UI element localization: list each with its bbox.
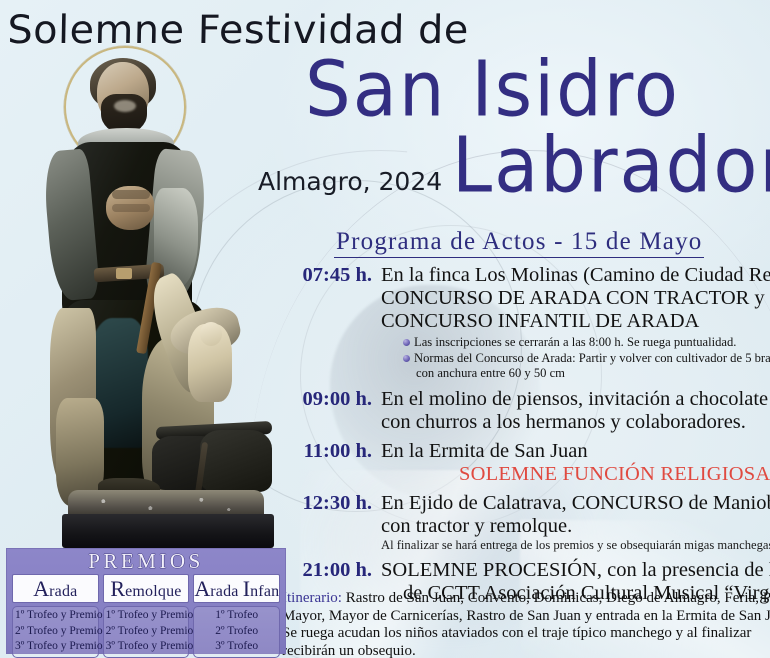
event-row: 09:00 h. En el molino de piensos, invita… xyxy=(282,388,770,434)
premios-title: PREMIOS xyxy=(7,549,285,574)
poster-canvas: Solemne Festividad de San Isidro Labrado… xyxy=(0,0,770,658)
event-note: Al finalizar se hará entrega de los prem… xyxy=(381,538,770,553)
list-item: 2º Trofeo xyxy=(196,624,277,640)
event-highlight-line: SOLEMNE FUNCIÓN RELIGIOSA xyxy=(381,463,770,486)
itinerary-line-4: recibirán un obsequio. xyxy=(282,643,770,658)
premios-header-rest-2: nfantil xyxy=(250,583,280,600)
bullet-text: Las inscripciones se cerrarán a las 8:00… xyxy=(414,335,736,351)
itinerary-line-3: Se ruega acudan los niños ataviados con … xyxy=(282,625,770,643)
bullet-text-main: Normas del Concurso de Arada: Partir y v… xyxy=(414,351,770,365)
premios-column-arada-infantil: Arada Infantil 1º Trofeo 2º Trofeo 3º Tr… xyxy=(193,574,280,658)
event-line: En Ejido de Calatrava, CONCURSO de Manio… xyxy=(381,492,770,515)
event-line: En el molino de piensos, invitación a ch… xyxy=(381,388,770,411)
itinerary-block: Itinerario: Rastro de San Juan, Convento… xyxy=(282,590,770,658)
premios-column-header: Arada xyxy=(12,574,99,603)
list-item: 3º Trofeo y Premio xyxy=(15,639,96,655)
premios-columns: Arada 1º Trofeo y Premio 2º Trofeo y Pre… xyxy=(7,574,285,658)
event-row: 11:00 h. En la Ermita de San Juan SOLEMN… xyxy=(282,440,770,486)
event-time: 07:45 h. xyxy=(282,264,381,287)
list-item: 3º Trofeo xyxy=(196,639,277,655)
event-bullet-list: Las inscripciones se cerrarán a las 8:00… xyxy=(403,335,770,382)
premios-header-initial: A xyxy=(33,576,49,601)
list-item: 1º Trofeo y Premio xyxy=(106,608,187,624)
list-item: 1º Trofeo xyxy=(196,608,277,624)
premios-prize-list: 1º Trofeo y Premio 2º Trofeo y Premio 3º… xyxy=(12,606,99,658)
list-item: 2º Trofeo y Premio xyxy=(106,624,187,640)
event-body: En Ejido de Calatrava, CONCURSO de Manio… xyxy=(381,492,770,553)
premios-prize-list: 1º Trofeo y Premio 2º Trofeo y Premio 3º… xyxy=(103,606,190,658)
bullet-text-continuation: con anchura entre 60 y 50 cm xyxy=(414,366,770,382)
programme-section: Programa de Actos - 15 de Mayo 07:45 h. … xyxy=(282,228,770,605)
ox-right xyxy=(200,430,272,492)
premios-header-rest: rada xyxy=(210,583,243,600)
san-isidro-statue xyxy=(2,38,284,550)
statue-plinth xyxy=(62,514,274,548)
premios-header-initial: A xyxy=(194,576,210,601)
event-time: 11:00 h. xyxy=(282,440,381,463)
event-row: 12:30 h. En Ejido de Calatrava, CONCURSO… xyxy=(282,492,770,553)
event-line: CONCURSO INFANTIL DE ARADA xyxy=(381,310,770,333)
premios-header-initial-2: I xyxy=(243,576,250,601)
premios-column-arada: Arada 1º Trofeo y Premio 2º Trofeo y Pre… xyxy=(12,574,99,658)
event-row: 07:45 h. En la finca Los Molinas (Camino… xyxy=(282,264,770,382)
itinerary-label: Itinerario: xyxy=(282,590,342,606)
subtitle-city-year: Almagro, 2024 xyxy=(258,167,442,196)
event-line: En la finca Los Molinas (Camino de Ciuda… xyxy=(381,264,770,287)
event-body: En la finca Los Molinas (Camino de Ciuda… xyxy=(381,264,770,382)
list-item: 1º Trofeo y Premio xyxy=(15,608,96,624)
statue-belt-buckle xyxy=(116,268,132,279)
event-line: CONCURSO DE ARADA CON TRACTOR y xyxy=(381,287,770,310)
statue-beard-highlight xyxy=(114,100,136,112)
bullet-text: Normas del Concurso de Arada: Partir y v… xyxy=(414,351,770,382)
premios-column-header: Remolque xyxy=(103,574,190,603)
event-body: En el molino de piensos, invitación a ch… xyxy=(381,388,770,434)
angel-head xyxy=(200,322,222,346)
statue-hand-finger-2 xyxy=(112,204,150,212)
list-item: 2º Trofeo y Premio xyxy=(15,624,96,640)
itinerary-line-2: Mayor, Mayor de Carnicerías, Rastro de S… xyxy=(282,608,770,626)
event-line: SOLEMNE PROCESIÓN, con la presencia de l… xyxy=(381,559,770,582)
event-time: 21:00 h. xyxy=(282,559,381,582)
list-item: Las inscripciones se cerrarán a las 8:00… xyxy=(403,335,770,351)
premios-column-remolque: Remolque 1º Trofeo y Premio 2º Trofeo y … xyxy=(103,574,190,658)
premios-column-header: Arada Infantil xyxy=(193,574,280,603)
event-body: En la Ermita de San Juan SOLEMNE FUNCIÓN… xyxy=(381,440,770,486)
event-line: con tractor y remolque. xyxy=(381,515,770,538)
event-line: con churros a los hermanos y colaborador… xyxy=(381,411,770,434)
itinerary-line-1-text: Rastro de San Juan, Convento, Dominicas,… xyxy=(342,590,770,606)
list-item: 3º Trofeo y Premio xyxy=(106,639,187,655)
event-line-tail: , con la presencia de la Banda xyxy=(597,559,770,581)
premios-prize-list: 1º Trofeo 2º Trofeo 3º Trofeo xyxy=(193,606,280,658)
premios-header-initial: R xyxy=(110,576,125,601)
programme-heading: Programa de Actos - 15 de Mayo xyxy=(334,228,704,258)
premios-header-rest: emolque xyxy=(125,583,182,600)
bullet-dot-icon xyxy=(403,355,410,362)
event-line: En la Ermita de San Juan xyxy=(381,440,770,463)
event-highlight-text: SOLEMNE PROCESIÓN xyxy=(381,559,597,581)
page-title-saint-line2: Labrador xyxy=(452,130,770,200)
bullet-dot-icon xyxy=(403,339,410,346)
page-title-saint-line1: San Isidro xyxy=(305,54,680,124)
itinerary-line-1: Itinerario: Rastro de San Juan, Convento… xyxy=(282,590,770,608)
event-time: 09:00 h. xyxy=(282,388,381,411)
list-item: Normas del Concurso de Arada: Partir y v… xyxy=(403,351,770,382)
premios-header-rest: rada xyxy=(49,583,77,600)
event-time: 12:30 h. xyxy=(282,492,381,515)
premios-panel: PREMIOS Arada 1º Trofeo y Premio 2º Trof… xyxy=(6,548,286,654)
statue-hand-finger-1 xyxy=(112,190,150,199)
